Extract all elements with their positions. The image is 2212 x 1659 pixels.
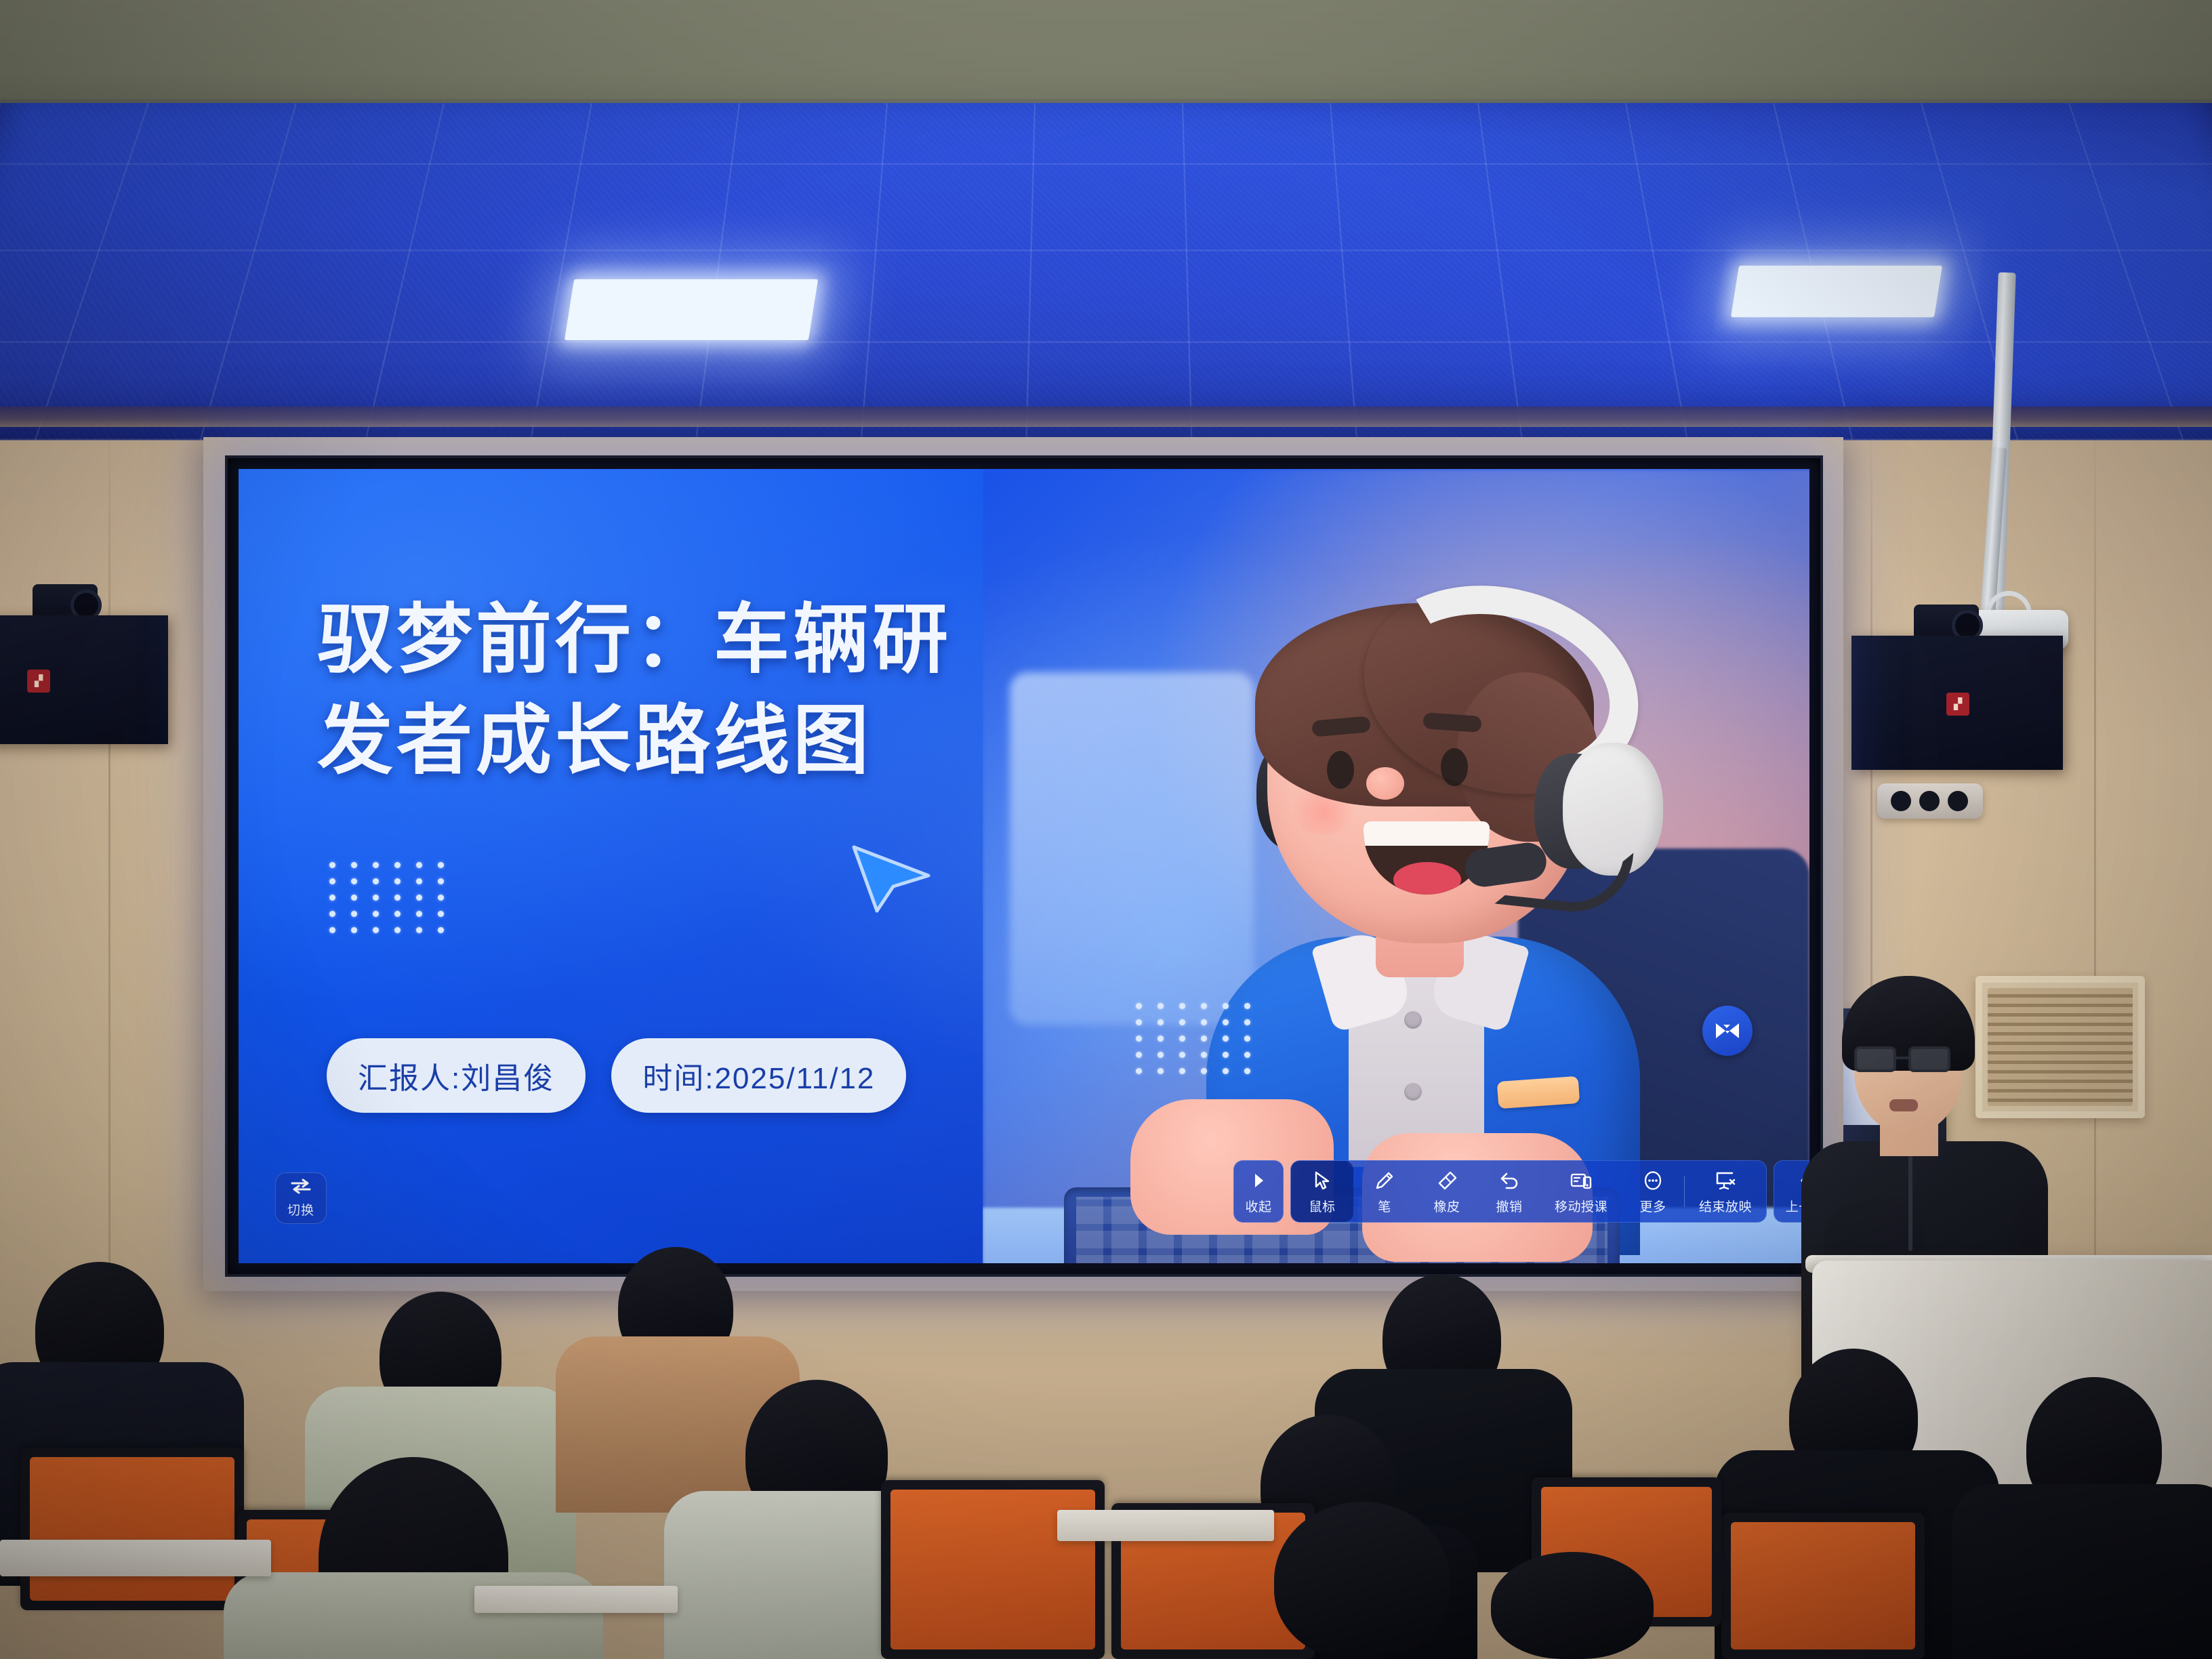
- speaker-brand-badge: ▞: [27, 670, 50, 693]
- switch-button-label: 切换: [287, 1200, 314, 1218]
- toolbar-tool-label: 橡皮: [1433, 1197, 1460, 1215]
- pen-icon: [1374, 1169, 1395, 1192]
- led-display-screen[interactable]: 驭梦前行：车辆研 发者成长路线图 汇报人:刘昌俊 时间:2025/11/12 切…: [239, 469, 1809, 1263]
- date-pill: 时间:2025/11/12: [611, 1038, 906, 1113]
- character-button: [1404, 1011, 1422, 1029]
- presenter-glasses: [1854, 1046, 1964, 1073]
- wall-speaker-right: ▞: [1851, 636, 2063, 770]
- led-ceiling-panel: [565, 279, 818, 340]
- character-button: [1404, 1083, 1422, 1101]
- mobile-teaching-icon: [1570, 1169, 1593, 1192]
- play-triangle-icon: [1252, 1169, 1265, 1192]
- slide-illustration: [983, 469, 1809, 1263]
- toolbar-collapse-label: 收起: [1245, 1197, 1271, 1215]
- cursor-arrow-icon: [846, 840, 934, 916]
- toolbar-tool-label: 更多: [1639, 1197, 1666, 1215]
- end-show-icon: [1715, 1169, 1736, 1192]
- more-dots-icon: [1643, 1169, 1663, 1192]
- audience-head: [1274, 1502, 1450, 1659]
- wall-seam: [2094, 420, 2096, 1369]
- audience-chair: [881, 1480, 1105, 1659]
- cursor-icon: [1313, 1169, 1332, 1192]
- audience-chair: [20, 1448, 244, 1610]
- toolbar-end-show-button[interactable]: 结束放映: [1685, 1161, 1766, 1222]
- toolbar-tool-pen[interactable]: 笔: [1353, 1161, 1416, 1222]
- slide-title-line-2: 发者成长路线图: [317, 691, 1185, 792]
- wall-speaker-left: ▞: [0, 615, 168, 744]
- ceiling-bottom-edge: [0, 407, 2212, 427]
- audience-chair: [1721, 1513, 1925, 1659]
- character-teeth: [1364, 821, 1490, 846]
- toolbar-tool-label: 笔: [1378, 1197, 1391, 1215]
- undo-icon: [1498, 1169, 1520, 1192]
- slide-title-line-1: 驭梦前行：车辆研: [317, 590, 1185, 691]
- toolbar-tool-eraser[interactable]: 橡皮: [1416, 1161, 1478, 1222]
- slide-title: 驭梦前行：车辆研 发者成长路线图: [317, 590, 1185, 792]
- character-tongue: [1393, 862, 1461, 895]
- slide-watermark-logo: [1702, 1006, 1753, 1056]
- presenter-pill: 汇报人:刘昌俊: [327, 1038, 586, 1113]
- toolbar-tool-more[interactable]: 更多: [1622, 1161, 1684, 1222]
- toolbar-tool-label: 结束放映: [1699, 1197, 1752, 1215]
- presenter-mouth: [1889, 1099, 1918, 1111]
- screenshot-root: ▞ ▞: [0, 0, 2212, 1659]
- led-ceiling-panel: [1731, 266, 1942, 317]
- switch-button[interactable]: 切换: [275, 1172, 327, 1224]
- audience-desk: [0, 1540, 271, 1576]
- toolbar-tool-mobile-teaching[interactable]: 移动授课: [1540, 1161, 1622, 1222]
- toolbar-tool-label: 鼠标: [1309, 1197, 1335, 1215]
- audience-desk: [474, 1586, 678, 1613]
- toolbar-collapse-group: 收起: [1233, 1160, 1284, 1223]
- toolbar-tool-mouse[interactable]: 鼠标: [1291, 1161, 1353, 1222]
- toolbar-tools-group: 鼠标 笔: [1290, 1160, 1767, 1223]
- toolbar-tool-label: 撤销: [1496, 1197, 1522, 1215]
- character-eye-left: [1327, 751, 1354, 789]
- audience-shoulders: [1952, 1484, 2212, 1659]
- presentation-toolbar: 收起 鼠标: [1233, 1160, 1809, 1223]
- character-name-badge: [1497, 1076, 1580, 1109]
- toolbar-tool-label: 移动授课: [1555, 1197, 1607, 1215]
- eraser-icon: [1436, 1169, 1458, 1192]
- slide-info-pills: 汇报人:刘昌俊 时间:2025/11/12: [327, 1038, 906, 1113]
- audience-desk: [1057, 1510, 1274, 1541]
- camera-sensor-bar: [1877, 783, 1983, 819]
- toolbar-tool-undo[interactable]: 撤销: [1478, 1161, 1540, 1222]
- toolbar-collapse-button[interactable]: 收起: [1234, 1161, 1283, 1222]
- presenter-jacket-zip: [1908, 1149, 1912, 1251]
- speaker-brand-badge: ▞: [1946, 693, 1969, 716]
- audience-head: [1491, 1552, 1654, 1659]
- character-nose: [1366, 767, 1404, 800]
- swap-arrows-icon: [289, 1178, 312, 1197]
